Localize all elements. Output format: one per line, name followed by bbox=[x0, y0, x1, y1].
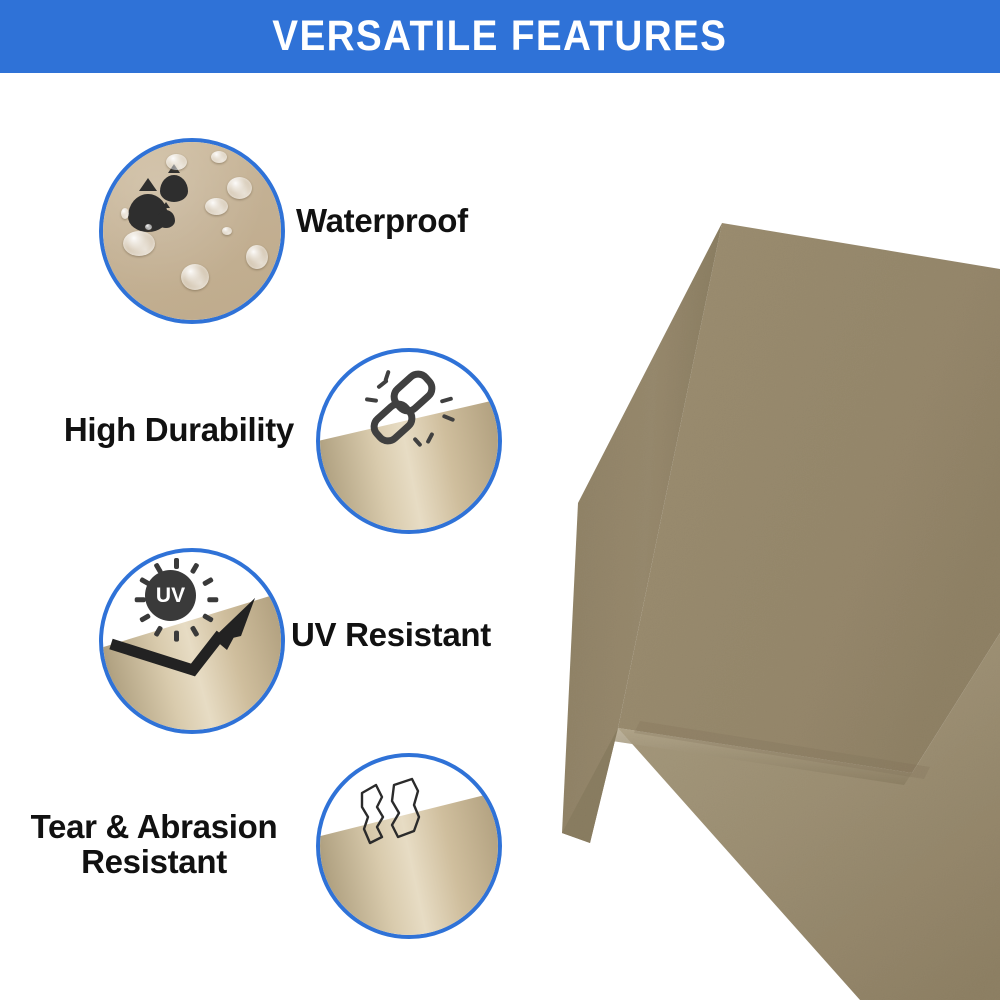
product-fabric-illustration bbox=[500, 73, 1000, 1000]
feature-label-tear-abrasion-resistant: Tear & Abrasion Resistant bbox=[4, 810, 304, 879]
feature-circle-waterproof[interactable] bbox=[99, 138, 285, 324]
page-title: VERSATILE FEATURES bbox=[272, 12, 727, 61]
reflected-ray-arrow bbox=[103, 552, 285, 734]
water-droplet-icon bbox=[103, 142, 281, 320]
fabric-main-panel bbox=[618, 223, 1000, 773]
torn-fabric-icon bbox=[320, 757, 498, 935]
infographic-page: VERSATILE FEATURES bbox=[0, 0, 1000, 1000]
feature-circle-high-durability[interactable] bbox=[316, 348, 502, 534]
torn-fabric-outline bbox=[320, 757, 502, 939]
feature-circle-tear-abrasion-resistant[interactable] bbox=[316, 753, 502, 939]
uv-sun-icon: UV bbox=[103, 552, 281, 730]
header-banner: VERSATILE FEATURES bbox=[0, 0, 1000, 73]
feature-label-waterproof: Waterproof bbox=[296, 204, 506, 239]
feature-label-uv-resistant: UV Resistant bbox=[291, 618, 521, 653]
feature-circle-uv-resistant[interactable]: UV bbox=[99, 548, 285, 734]
chain-link-icon bbox=[320, 352, 498, 530]
feature-label-high-durability: High Durability bbox=[24, 413, 294, 448]
product-image bbox=[500, 73, 1000, 1000]
